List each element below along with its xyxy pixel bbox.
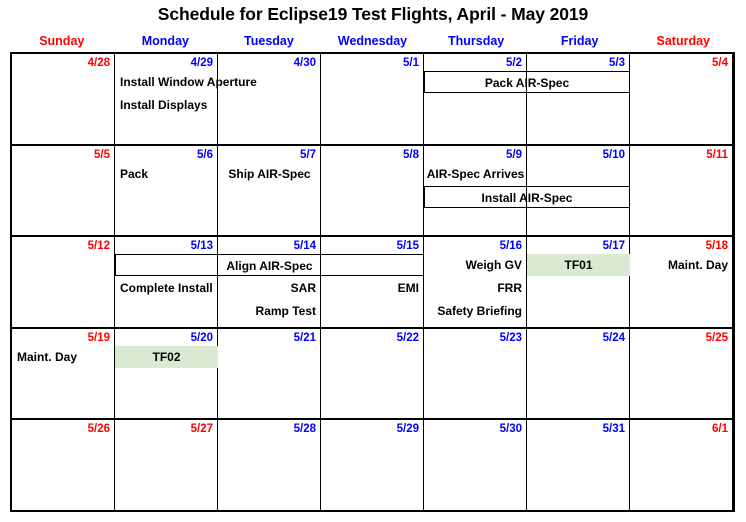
date-number: 5/18 [706,239,728,253]
day-cell-5-6[interactable]: 5/6 [115,146,218,236]
day-cell-5-29[interactable]: 5/29 [321,420,424,510]
date-number: 5/20 [191,331,213,345]
calendar-grid: 4/284/294/305/15/25/35/4Install Window A… [10,52,735,512]
day-cell-5-16[interactable]: 5/16 [424,237,527,327]
calendar-week-row: 5/265/275/285/295/305/316/1 [12,420,733,510]
calendar-week-row: 4/284/294/305/15/25/35/4Install Window A… [12,54,733,146]
day-cell-5-28[interactable]: 5/28 [218,420,321,510]
date-number: 5/22 [397,331,419,345]
date-number: 5/11 [706,148,728,162]
day-cell-5-17[interactable]: 5/17 [527,237,630,327]
day-header-friday: Friday [528,33,632,49]
day-cell-5-1[interactable]: 5/1 [321,54,424,144]
day-cell-5-25[interactable]: 5/25 [630,329,733,419]
date-number: 5/9 [506,148,522,162]
day-cell-5-2[interactable]: 5/2 [424,54,527,144]
day-cell-5-14[interactable]: 5/14 [218,237,321,327]
day-cell-5-20[interactable]: 5/20 [115,329,218,419]
date-number: 4/29 [191,56,213,70]
day-cell-4-29[interactable]: 4/29 [115,54,218,144]
date-number: 5/27 [191,422,213,436]
page-title: Schedule for Eclipse19 Test Flights, Apr… [0,4,746,25]
day-header-thursday: Thursday [424,33,528,49]
day-cell-5-30[interactable]: 5/30 [424,420,527,510]
day-header-sunday: Sunday [10,33,114,49]
day-cell-5-22[interactable]: 5/22 [321,329,424,419]
date-number: 5/13 [191,239,213,253]
day-cell-5-10[interactable]: 5/10 [527,146,630,236]
date-number: 5/16 [500,239,522,253]
day-cell-5-19[interactable]: 5/19 [12,329,115,419]
day-cell-5-15[interactable]: 5/15 [321,237,424,327]
day-cell-5-27[interactable]: 5/27 [115,420,218,510]
day-header-tuesday: Tuesday [217,33,321,49]
day-cell-5-3[interactable]: 5/3 [527,54,630,144]
day-cell-5-11[interactable]: 5/11 [630,146,733,236]
day-of-week-header: SundayMondayTuesdayWednesdayThursdayFrid… [10,33,735,49]
calendar-week-row: 5/125/135/145/155/165/175/18Align AIR-Sp… [12,237,733,329]
date-number: 5/2 [506,56,522,70]
date-number: 5/23 [500,331,522,345]
date-number: 5/5 [94,148,110,162]
date-number: 5/10 [603,148,625,162]
day-cell-5-31[interactable]: 5/31 [527,420,630,510]
date-number: 4/30 [294,56,316,70]
day-cell-5-13[interactable]: 5/13 [115,237,218,327]
calendar-week-row: 5/55/65/75/85/95/105/11PackShip AIR-Spec… [12,146,733,238]
day-cell-5-12[interactable]: 5/12 [12,237,115,327]
day-header-monday: Monday [114,33,218,49]
day-cell-5-23[interactable]: 5/23 [424,329,527,419]
date-number: 5/15 [397,239,419,253]
date-number: 5/3 [609,56,625,70]
date-number: 5/17 [603,239,625,253]
date-number: 5/29 [397,422,419,436]
date-number: 5/8 [403,148,419,162]
date-number: 4/28 [88,56,110,70]
day-header-saturday: Saturday [631,33,735,49]
date-number: 5/7 [300,148,316,162]
day-cell-5-7[interactable]: 5/7 [218,146,321,236]
date-number: 5/19 [88,331,110,345]
date-number: 6/1 [712,422,728,436]
calendar-page: Schedule for Eclipse19 Test Flights, Apr… [0,0,746,522]
day-cell-6-1[interactable]: 6/1 [630,420,733,510]
date-number: 5/26 [88,422,110,436]
day-cell-5-4[interactable]: 5/4 [630,54,733,144]
date-number: 5/30 [500,422,522,436]
day-header-wednesday: Wednesday [321,33,425,49]
day-cell-5-24[interactable]: 5/24 [527,329,630,419]
day-cell-4-30[interactable]: 4/30 [218,54,321,144]
day-cell-5-18[interactable]: 5/18 [630,237,733,327]
date-number: 5/12 [88,239,110,253]
date-number: 5/1 [403,56,419,70]
date-number: 5/6 [197,148,213,162]
date-number: 5/21 [294,331,316,345]
date-number: 5/4 [712,56,728,70]
day-cell-5-8[interactable]: 5/8 [321,146,424,236]
calendar-week-row: 5/195/205/215/225/235/245/25Maint. DayTF… [12,329,733,421]
day-cell-5-26[interactable]: 5/26 [12,420,115,510]
day-cell-5-9[interactable]: 5/9 [424,146,527,236]
date-number: 5/24 [603,331,625,345]
date-number: 5/14 [294,239,316,253]
day-cell-5-5[interactable]: 5/5 [12,146,115,236]
date-number: 5/31 [603,422,625,436]
day-cell-5-21[interactable]: 5/21 [218,329,321,419]
date-number: 5/25 [706,331,728,345]
day-cell-4-28[interactable]: 4/28 [12,54,115,144]
date-number: 5/28 [294,422,316,436]
